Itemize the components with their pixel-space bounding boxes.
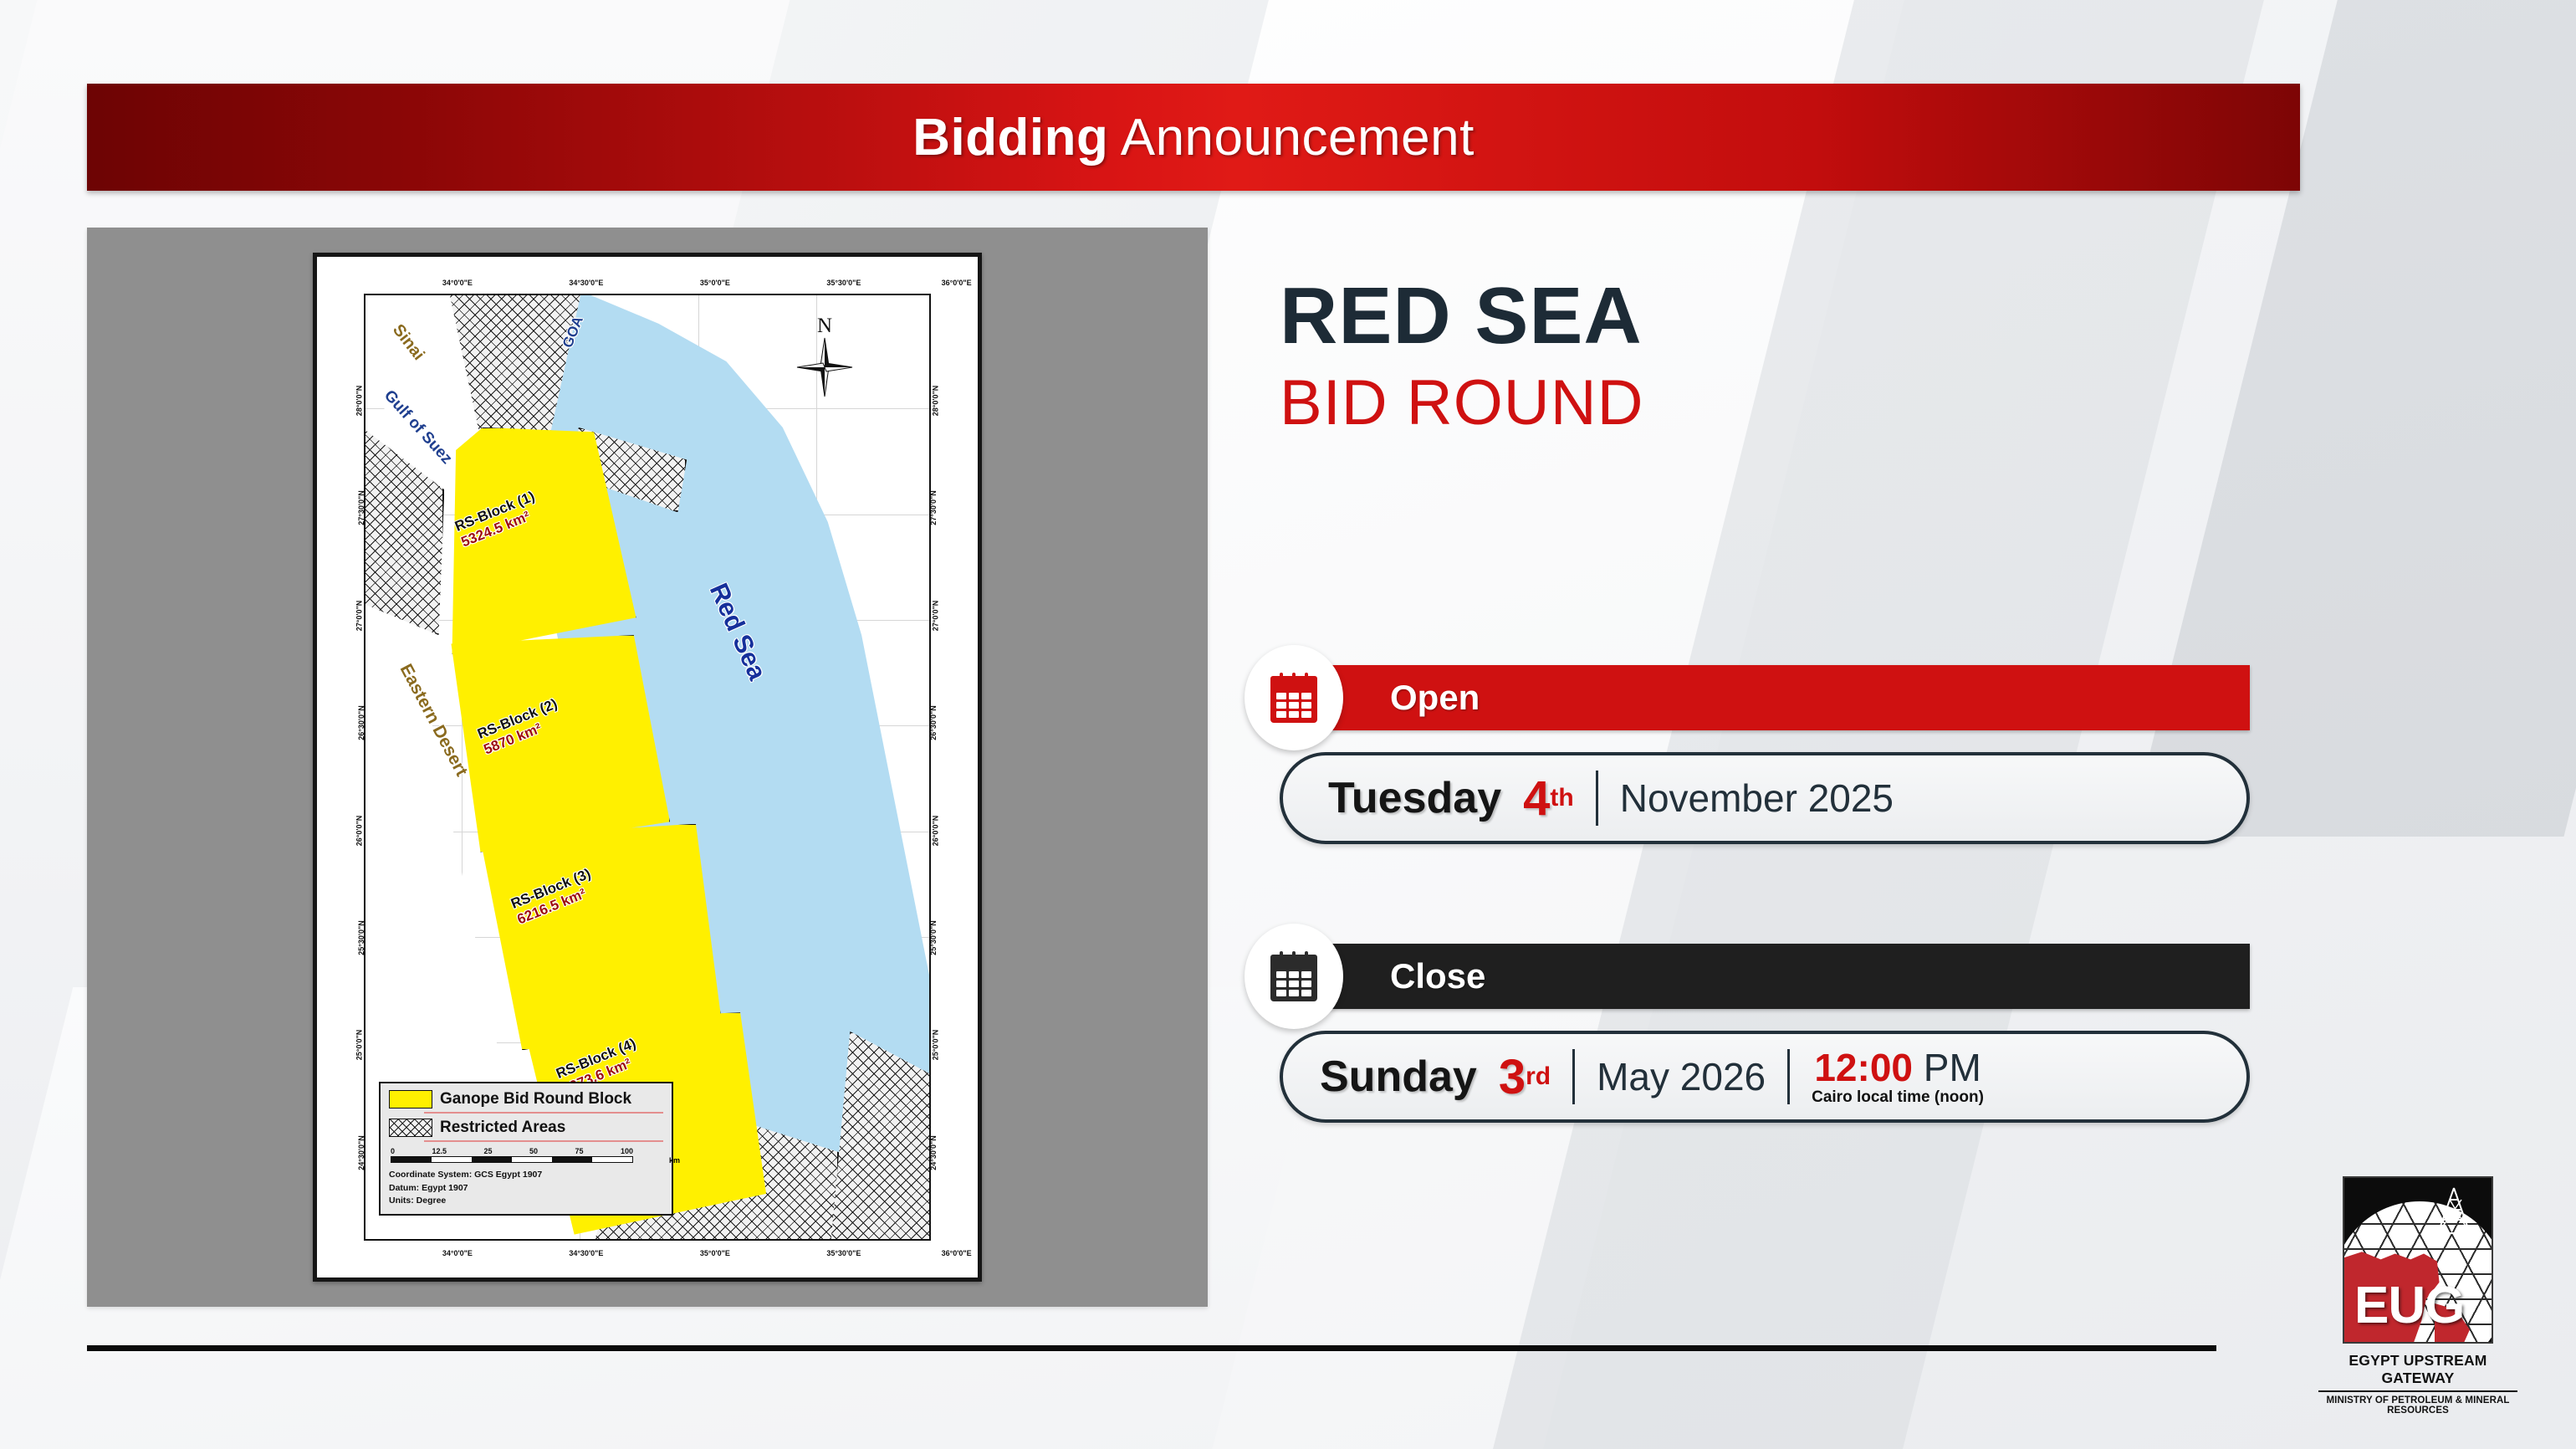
scale-segment [512,1157,552,1162]
close-status-bar: Close [1280,944,2250,1009]
hero-title-line2: BID ROUND [1280,371,2451,435]
eug-logo-rule [2318,1390,2517,1392]
map-lon-tick-top-3: 35°30'0"E [826,279,861,287]
close-month-year: May 2026 [1597,1054,1766,1099]
scale-bar-segments [391,1156,633,1163]
open-month-year: November 2025 [1620,776,1894,821]
scale-unit-label: km [669,1156,680,1165]
scale-tick-1: 12.5 [432,1147,447,1155]
eug-logo-name: EGYPT UPSTREAM GATEWAY [2313,1352,2522,1387]
open-date-number: 4 [1523,771,1550,827]
page-title: Bidding Announcement [912,108,1475,167]
map-lat-tick-left-0: 28°0'0"N [355,386,363,417]
scale-tick-labels: 0 12.5 25 50 75 100 [391,1147,633,1155]
close-divider-1 [1572,1049,1575,1104]
close-time: 12:00 PM [1814,1047,1981,1088]
schedule-close-section: Close Sunday 3rd May 2026 12:00 PM Cairo… [1280,944,2250,1123]
legend-rule-1 [424,1112,663,1114]
legend-meta-units: Units: Degree [389,1195,663,1207]
calendar-icon [1270,951,1317,1001]
hero-title-line1: RED SEA [1280,276,2451,356]
compass-star-icon [795,336,854,398]
map-lon-tick-top-0: 34°0'0"E [442,279,473,287]
close-day-name: Sunday [1320,1052,1477,1102]
page-title-bold: Bidding [912,109,1108,166]
map-lon-tick-bottom-2: 35°0'0"E [700,1249,730,1257]
map-plot-area[interactable]: RS-Block (1) 5324.5 km² RS-Block (2) 587… [364,294,931,1241]
map-lat-tick-right-2: 27°0'0"N [932,601,940,632]
map-lon-tick-top-1: 34°30'0"E [569,279,603,287]
header-banner: Bidding Announcement [87,84,2300,191]
map-lat-tick-right-4: 26°0'0"N [932,815,940,846]
close-time-minute: 00 [1870,1046,1913,1089]
scale-segment [592,1157,632,1162]
close-calendar-badge [1245,924,1343,1029]
calendar-icon [1270,673,1317,723]
map-panel: 34°0'0"E 34°30'0"E 35°0'0"E 35°30'0"E 36… [87,228,1208,1307]
open-date-ordinal: th [1550,784,1573,812]
map-lon-tick-top-4: 36°0'0"E [942,279,972,287]
open-divider [1596,771,1598,826]
legend-rule-2 [424,1140,663,1142]
map-legend: Ganope Bid Round Block Restricted Areas … [379,1082,673,1216]
scale-tick-3: 50 [529,1147,538,1155]
scale-tick-0: 0 [391,1147,395,1155]
schedule-open-section: Open Tuesday 4th November 2025 [1280,665,2250,844]
close-timezone-note: Cairo local time (noon) [1812,1089,1984,1106]
legend-row-restricted: Restricted Areas [389,1119,663,1137]
oil-derrick-icon [2431,1186,2476,1235]
close-time-separator: : [1857,1046,1869,1089]
map-card: 34°0'0"E 34°30'0"E 35°0'0"E 35°30'0"E 36… [313,253,982,1282]
open-calendar-badge [1245,645,1343,750]
scale-tick-4: 75 [575,1147,583,1155]
scale-tick-5: 100 [621,1147,633,1155]
scale-tick-2: 25 [483,1147,492,1155]
eug-logomark: EUG [2343,1176,2493,1344]
map-inner-frame: 34°0'0"E 34°30'0"E 35°0'0"E 35°30'0"E 36… [325,265,969,1269]
close-date-number: 3 [1499,1049,1526,1105]
open-status-label: Open [1390,678,1480,718]
eug-logo: EUG EGYPT UPSTREAM GATEWAY MINISTRY OF P… [2313,1176,2522,1416]
scale-segment [391,1157,432,1162]
scale-segment [472,1157,512,1162]
scale-segment [432,1157,472,1162]
open-date-pill[interactable]: Tuesday 4th November 2025 [1280,752,2250,844]
close-divider-2 [1787,1049,1790,1104]
map-lon-tick-bottom-3: 35°30'0"E [826,1249,861,1257]
eug-logo-subtitle: MINISTRY OF PETROLEUM & MINERAL RESOURCE… [2313,1395,2522,1416]
bid-block-2[interactable] [444,635,670,852]
map-lon-tick-bottom-1: 34°30'0"E [569,1249,603,1257]
close-status-label: Close [1390,956,1485,996]
close-time-meridiem: PM [1924,1046,1981,1089]
page-title-regular: Announcement [1108,109,1474,166]
legend-meta-coordinate-system: Coordinate System: GCS Egypt 1907 [389,1169,663,1181]
legend-label-bid-block: Ganope Bid Round Block [440,1090,631,1109]
legend-label-restricted: Restricted Areas [440,1119,565,1137]
legend-row-blocks: Ganope Bid Round Block [389,1090,663,1109]
legend-swatch-restricted [389,1119,432,1137]
map-lat-tick-right-0: 28°0'0"N [932,386,940,417]
map-lat-tick-left-4: 26°0'0"N [355,815,363,846]
map-lon-tick-bottom-0: 34°0'0"E [442,1249,473,1257]
eug-mark-text: EUG [2354,1280,2464,1332]
map-lat-tick-left-2: 27°0'0"N [355,601,363,632]
scale-segment [552,1157,592,1162]
close-date-pill[interactable]: Sunday 3rd May 2026 12:00 PM Cairo local… [1280,1031,2250,1123]
map-lat-tick-left-6: 25°0'0"N [355,1030,363,1061]
compass-north-label: N [795,315,854,336]
calendar-grid [1276,971,1311,996]
close-time-hour: 12 [1814,1046,1857,1089]
close-time-group: 12:00 PM Cairo local time (noon) [1812,1047,1984,1106]
map-lon-tick-top-2: 35°0'0"E [700,279,730,287]
map-lat-tick-right-6: 25°0'0"N [932,1030,940,1061]
map-lon-tick-bottom-4: 36°0'0"E [942,1249,972,1257]
close-date-ordinal: rd [1526,1062,1551,1091]
legend-swatch-bid-block [389,1090,432,1109]
map-scale-bar: 0 12.5 25 50 75 100 [391,1147,663,1163]
legend-meta-datum: Datum: Egypt 1907 [389,1182,663,1195]
calendar-grid [1276,693,1311,718]
compass-rose-icon: N [795,315,854,399]
footer-divider [87,1345,2216,1351]
open-status-bar: Open [1280,665,2250,730]
right-content-column: RED SEA BID ROUND [1280,276,2451,435]
open-day-name: Tuesday [1328,773,1501,823]
